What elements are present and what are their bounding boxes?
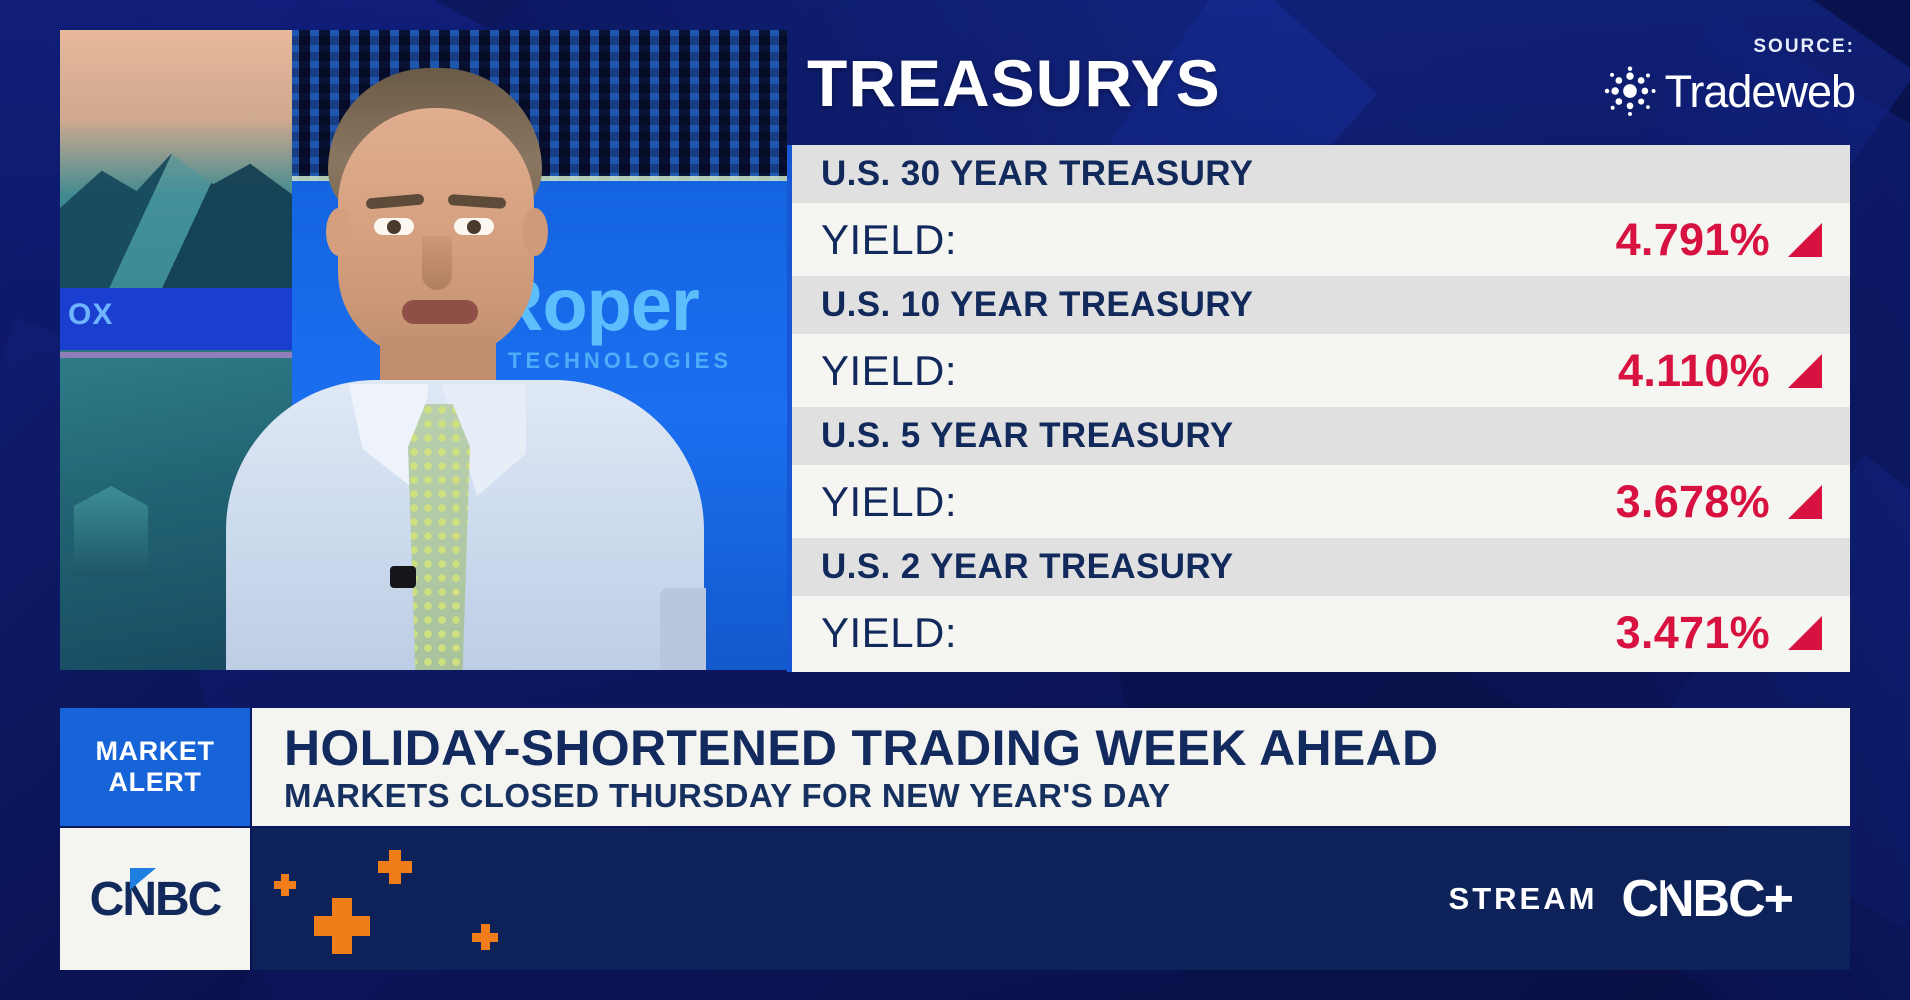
instrument-name: U.S. 10 YEAR TREASURY [821,285,1253,325]
yield-label: YIELD: [821,478,957,526]
cnbc-plus-triangle-icon [1665,865,1691,889]
mouth [402,300,478,324]
plus-decor-icon [472,924,498,950]
cnbc-wordmark: CNBC [90,872,221,927]
yield-value: 3.678% [1616,476,1770,528]
arrow-up-icon [1788,223,1822,257]
market-alert-badge: MARKET ALERT [60,708,250,826]
yield-label: YIELD: [821,609,957,657]
alert-line-1: MARKET [95,737,214,766]
guest-speaker [230,68,700,670]
subheadline-text: MARKETS CLOSED THURSDAY FOR NEW YEAR'S D… [284,779,1850,812]
alert-line-2: ALERT [109,768,202,797]
yield-readout: 4.791% [1616,214,1822,266]
stream-label: STREAM [1449,881,1598,917]
table-row-header: U.S. 2 YEAR TREASURY [792,538,1850,596]
yield-readout: 3.678% [1616,476,1822,528]
tradeweb-logo: Tradeweb [1525,60,1855,122]
instrument-name: U.S. 30 YEAR TREASURY [821,154,1253,194]
table-row-header: U.S. 10 YEAR TREASURY [792,276,1850,334]
nose [422,236,452,290]
yield-readout: 3.471% [1616,607,1822,659]
arrow-up-icon [1788,354,1822,388]
table-row: YIELD: 4.791% [792,203,1850,276]
eye-right [454,218,494,235]
page-title: TREASURYS [807,50,1221,116]
promo-bar: STREAM CNBC+ [252,828,1850,970]
instrument-name: U.S. 2 YEAR TREASURY [821,547,1234,587]
tradeweb-wordmark: Tradeweb [1665,69,1855,114]
treasury-yields-panel: U.S. 30 YEAR TREASURY YIELD: 4.791% U.S.… [787,145,1850,672]
cnbc-logo: CNBC [90,872,221,927]
table-row: YIELD: 3.678% [792,465,1850,538]
headline-banner: HOLIDAY-SHORTENED TRADING WEEK AHEAD MAR… [252,708,1850,826]
yield-value: 4.110% [1618,345,1770,397]
arrow-up-icon [1788,616,1822,650]
source-attribution: SOURCE: Tradeweb [1525,36,1855,122]
eye-left [374,218,414,235]
yield-value: 3.471% [1616,607,1770,659]
tradeweb-starburst-icon [1599,60,1661,122]
table-row: YIELD: 4.110% [792,334,1850,407]
table-row: YIELD: 3.471% [792,596,1850,669]
necktie [408,404,470,670]
ear-left [326,208,352,256]
stream-promo[interactable]: STREAM CNBC+ [1449,828,1792,970]
video-feed: Roper TECHNOLOGIES OX [60,30,787,670]
table-row-header: U.S. 5 YEAR TREASURY [792,407,1850,465]
plus-decor-icon [378,850,412,884]
plus-decor-icon [274,874,296,896]
network-logo-box: CNBC [60,828,250,970]
plus-decor-icon [314,898,370,954]
yield-label: YIELD: [821,216,957,264]
ear-right [522,208,548,256]
table-row-header: U.S. 30 YEAR TREASURY [792,145,1850,203]
arrow-up-icon [1788,485,1822,519]
yield-readout: 4.110% [1618,345,1822,397]
source-label: SOURCE: [1525,36,1855,58]
cnbc-triangle-icon [130,868,156,890]
cnbc-plus-wordmark: CNBC+ [1621,869,1792,929]
yield-label: YIELD: [821,347,957,395]
headline-text: HOLIDAY-SHORTENED TRADING WEEK AHEAD [284,723,1850,774]
yield-value: 4.791% [1616,214,1770,266]
instrument-name: U.S. 5 YEAR TREASURY [821,416,1234,456]
broadcast-screen: Roper TECHNOLOGIES OX [0,0,1910,1000]
lapel-microphone [390,566,416,588]
studio-chair [660,588,706,670]
backdrop-strip-text: OX [68,298,113,332]
